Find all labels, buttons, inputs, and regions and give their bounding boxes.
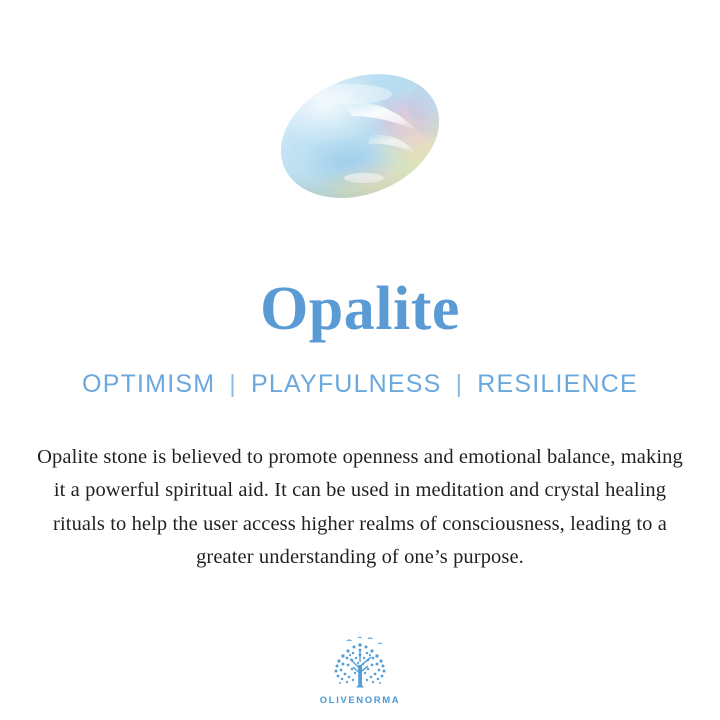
- tree-icon: [323, 635, 397, 693]
- opalite-cabochon-image: [252, 58, 468, 213]
- keyword-optimism: OPTIMISM: [82, 370, 215, 399]
- brand-name: OLIVENORMA: [320, 695, 400, 706]
- keyword-list: OPTIMISM | PLAYFULNESS | RESILIENCE: [82, 370, 638, 399]
- description-text: Opalite stone is believed to promote ope…: [30, 441, 690, 575]
- opalite-info-card: Opalite OPTIMISM | PLAYFULNESS | RESILIE…: [0, 0, 720, 720]
- keyword-separator: |: [229, 370, 237, 399]
- keyword-separator: |: [456, 370, 464, 399]
- stone-image-area: [0, 0, 720, 250]
- page-title: Opalite: [260, 278, 460, 340]
- keyword-playfulness: PLAYFULNESS: [251, 370, 442, 399]
- brand-logo: OLIVENORMA: [0, 635, 720, 706]
- keyword-resilience: RESILIENCE: [477, 370, 638, 399]
